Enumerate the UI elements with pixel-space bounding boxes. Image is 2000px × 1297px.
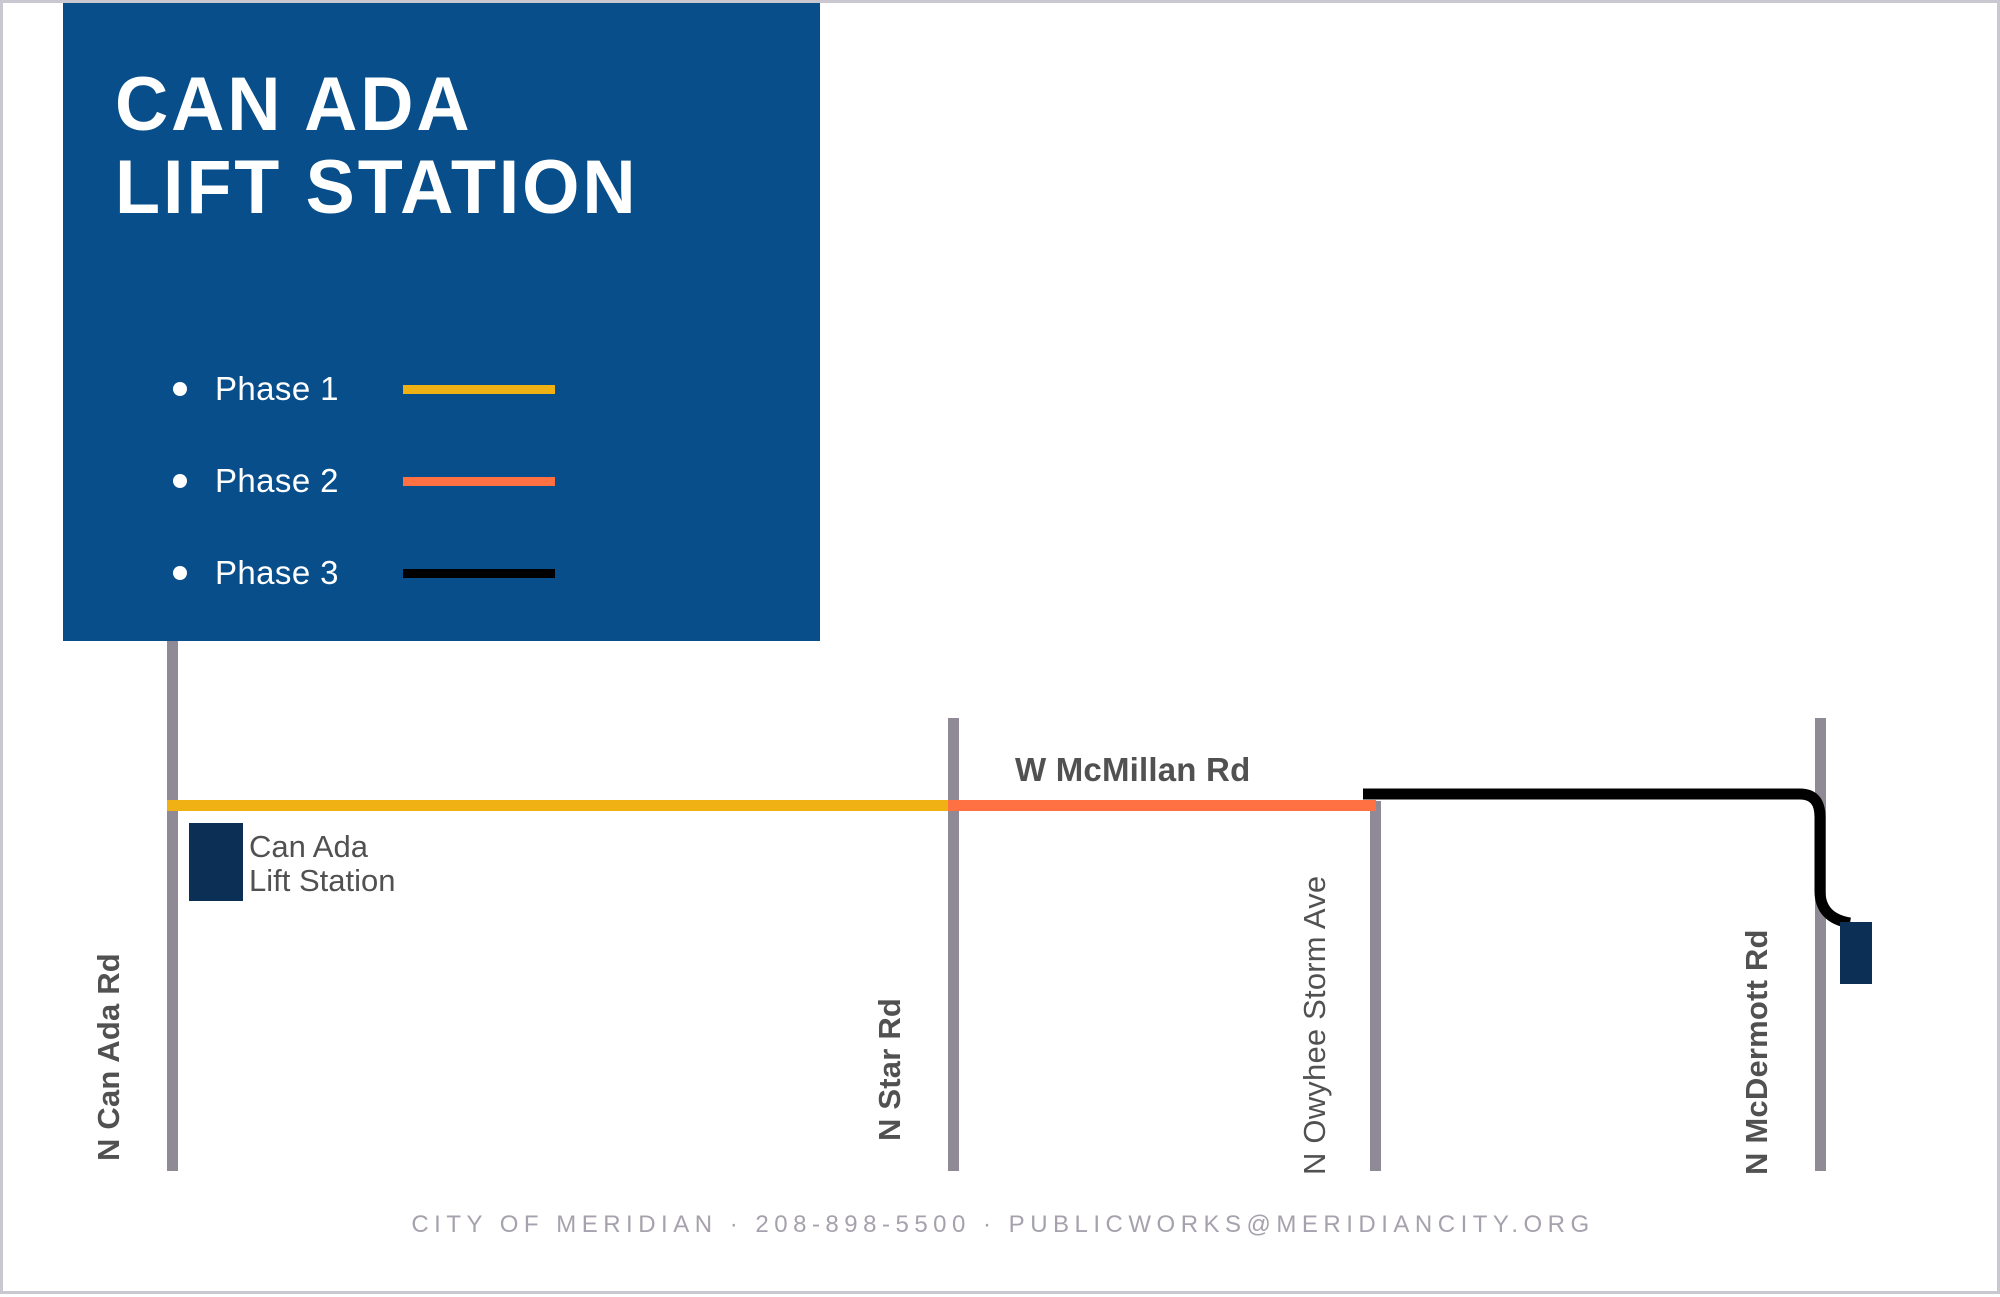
page-title-line-2: LIFT STATION bbox=[115, 146, 775, 229]
legend-label-phase-1: Phase 1 bbox=[215, 370, 403, 408]
station-caption-line-1: Can Ada bbox=[249, 830, 395, 864]
legend-label-phase-3: Phase 3 bbox=[215, 554, 403, 592]
page-title: CAN ADA LIFT STATION bbox=[115, 63, 795, 229]
legend-swatch-phase-3 bbox=[403, 569, 555, 578]
phase-1-corridor bbox=[167, 800, 953, 811]
phase-3-corridor bbox=[1363, 783, 1883, 1023]
phase-legend: Phase 1 Phase 2 Phase 3 bbox=[173, 343, 773, 619]
legend-swatch-phase-1 bbox=[403, 385, 555, 394]
road-label-n-can-ada-rd: N Can Ada Rd bbox=[91, 953, 127, 1161]
footer-contact: CITY OF MERIDIAN · 208-898-5500 · PUBLIC… bbox=[3, 1211, 2000, 1239]
road-label-n-owyhee-storm-ave: N Owyhee Storm Ave bbox=[1297, 876, 1333, 1175]
info-panel: CAN ADA LIFT STATION Phase 1 Phase 2 Pha… bbox=[63, 3, 820, 641]
legend-label-phase-2: Phase 2 bbox=[215, 462, 403, 500]
mcdermott-terminus-marker bbox=[1840, 922, 1872, 984]
phase-2-corridor bbox=[948, 800, 1376, 811]
road-label-n-star-rd: N Star Rd bbox=[872, 998, 908, 1141]
road-label-w-mcmillan-rd: W McMillan Rd bbox=[1015, 751, 1250, 789]
bullet-icon bbox=[173, 566, 187, 580]
bullet-icon bbox=[173, 474, 187, 488]
legend-item-phase-1: Phase 1 bbox=[173, 343, 773, 435]
page-title-line-1: CAN ADA bbox=[115, 63, 775, 146]
bullet-icon bbox=[173, 382, 187, 396]
road-line-n-can-ada-rd bbox=[167, 641, 178, 1171]
legend-item-phase-3: Phase 3 bbox=[173, 527, 773, 619]
legend-swatch-phase-2 bbox=[403, 477, 555, 486]
can-ada-lift-station-marker bbox=[189, 823, 243, 901]
road-line-n-star-rd bbox=[948, 718, 959, 1171]
station-caption-line-2: Lift Station bbox=[249, 864, 395, 898]
legend-item-phase-2: Phase 2 bbox=[173, 435, 773, 527]
can-ada-lift-station-caption: Can Ada Lift Station bbox=[249, 830, 395, 898]
poster-canvas: N Can Ada Rd N Star Rd N Owyhee Storm Av… bbox=[0, 0, 2000, 1294]
